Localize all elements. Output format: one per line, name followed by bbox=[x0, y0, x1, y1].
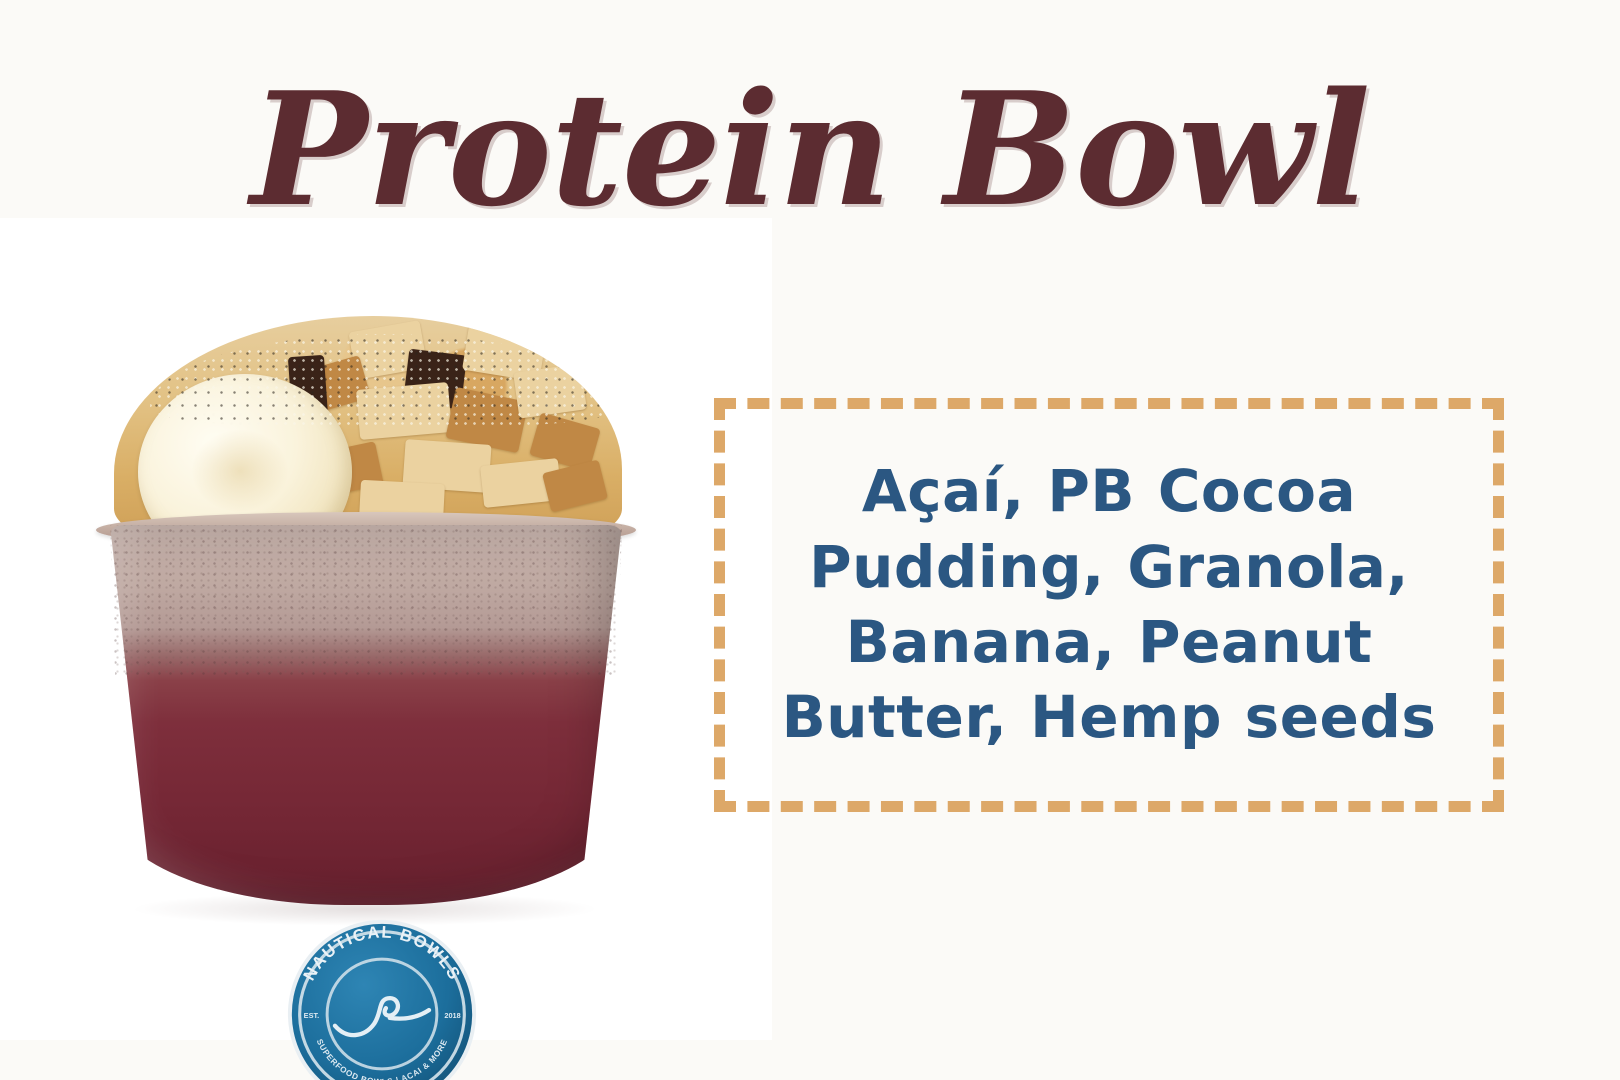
logo-est-right: 2018 bbox=[444, 1011, 460, 1020]
page-title: Protein Bowl bbox=[0, 72, 1620, 228]
ingredients-text: Açaí, PB Cocoa Pudding, Granola, Banana,… bbox=[749, 454, 1469, 756]
slide-canvas: Protein Bowl bbox=[0, 0, 1620, 1080]
product-photo-bowl: NAUTICAL BOWLS SUPERFOOD BOWLS | ACAI & … bbox=[52, 300, 692, 930]
chia-pudding-layer bbox=[110, 525, 622, 675]
banana-core-icon bbox=[192, 430, 288, 512]
nautical-bowls-logo: NAUTICAL BOWLS SUPERFOOD BOWLS | ACAI & … bbox=[284, 916, 480, 1080]
logo-est-left: EST. bbox=[304, 1011, 320, 1020]
ingredients-callout: Açaí, PB Cocoa Pudding, Granola, Banana,… bbox=[714, 398, 1504, 812]
